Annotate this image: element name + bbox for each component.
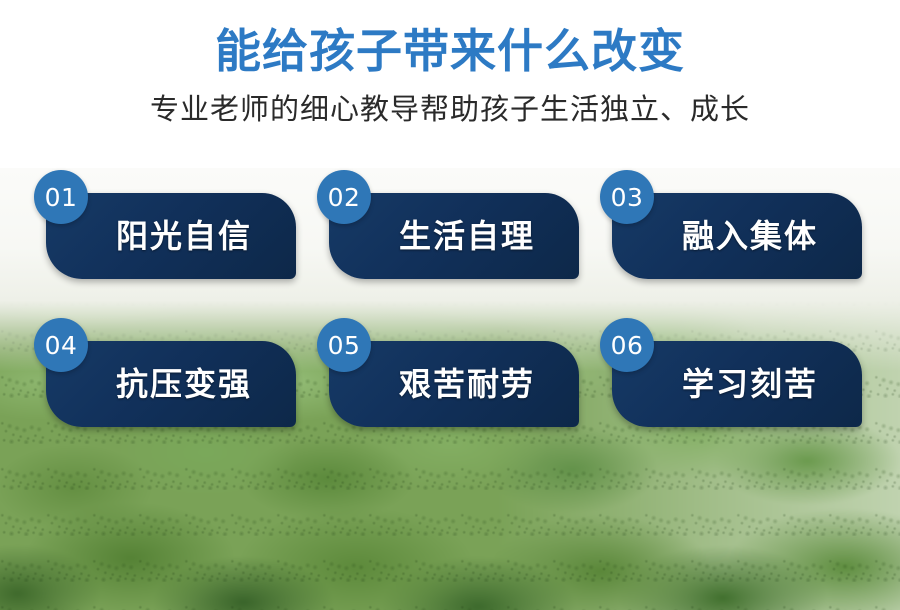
feature-card-label: 艰苦耐劳 bbox=[399, 368, 535, 400]
feature-number-text: 02 bbox=[328, 185, 361, 210]
feature-number-text: 04 bbox=[45, 333, 78, 358]
feature-number-text: 01 bbox=[45, 185, 78, 210]
feature-number-text: 06 bbox=[611, 333, 644, 358]
feature-card-02[interactable]: 生活自理 02 bbox=[317, 193, 579, 279]
feature-card-01[interactable]: 阳光自信 01 bbox=[34, 193, 296, 279]
feature-number-badge: 02 bbox=[317, 170, 371, 224]
page-title: 能给孩子带来什么改变 bbox=[0, 0, 900, 78]
feature-card-03[interactable]: 融入集体 03 bbox=[600, 193, 862, 279]
feature-number-badge: 04 bbox=[34, 318, 88, 372]
feature-number-badge: 03 bbox=[600, 170, 654, 224]
feature-number-badge: 06 bbox=[600, 318, 654, 372]
feature-card-grid: 阳光自信 01 生活自理 02 融入集体 03 抗压变强 bbox=[34, 193, 880, 427]
feature-card-06[interactable]: 学习刻苦 06 bbox=[600, 341, 862, 427]
feature-card-label: 融入集体 bbox=[682, 220, 818, 252]
feature-card-label: 生活自理 bbox=[399, 220, 535, 252]
promotional-poster: 能给孩子带来什么改变 专业老师的细心教导帮助孩子生活独立、成长 阳光自信 01 … bbox=[0, 0, 900, 610]
feature-card-label: 学习刻苦 bbox=[682, 368, 818, 400]
feature-card-label: 抗压变强 bbox=[116, 368, 252, 400]
feature-number-text: 03 bbox=[611, 185, 644, 210]
feature-number-badge: 05 bbox=[317, 318, 371, 372]
poster-heading-block: 能给孩子带来什么改变 专业老师的细心教导帮助孩子生活独立、成长 bbox=[0, 0, 900, 127]
feature-card-label: 阳光自信 bbox=[116, 220, 252, 252]
feature-card-04[interactable]: 抗压变强 04 bbox=[34, 341, 296, 427]
feature-card-05[interactable]: 艰苦耐劳 05 bbox=[317, 341, 579, 427]
feature-number-text: 05 bbox=[328, 333, 361, 358]
page-subtitle: 专业老师的细心教导帮助孩子生活独立、成长 bbox=[0, 78, 900, 127]
feature-number-badge: 01 bbox=[34, 170, 88, 224]
